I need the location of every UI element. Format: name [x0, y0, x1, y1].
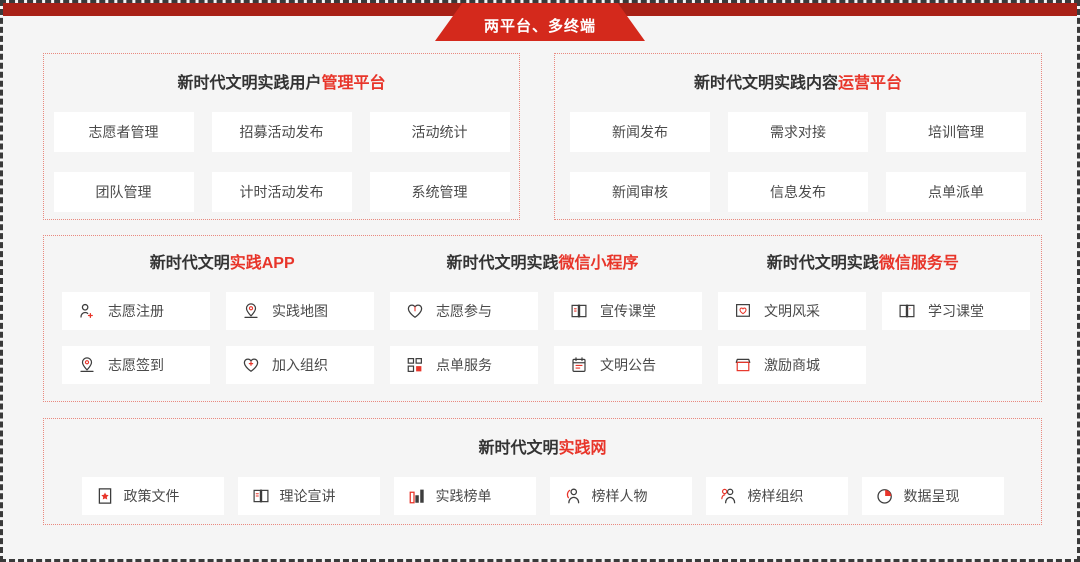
calendar-icon: [570, 356, 588, 374]
panel-user-title: 新时代文明实践用户管理平台: [44, 76, 519, 92]
card-policy-documents[interactable]: 政策文件: [82, 477, 224, 515]
banner-title: 两平台、多终端: [484, 11, 596, 34]
panel-ops-row-1: 新闻发布 需求对接 培训管理: [555, 112, 1041, 152]
card-join-organization-label: 加入组织: [272, 355, 328, 375]
book-open-icon: [898, 302, 916, 320]
location-check-icon: [78, 356, 96, 374]
card-news-review[interactable]: 新闻审核: [570, 172, 710, 212]
card-news-publish[interactable]: 新闻发布: [570, 112, 710, 152]
panel-user-title-plain: 新时代文明实践用户: [177, 75, 321, 92]
card-incentive-mall[interactable]: 激励商城: [718, 346, 866, 384]
card-volunteer-management[interactable]: 志愿者管理: [54, 112, 194, 152]
mobile-title-service-account-accent: 微信服务号: [879, 255, 959, 272]
people-icon: [720, 487, 738, 505]
card-recruit-activity-publish[interactable]: 招募活动发布: [212, 112, 352, 152]
user-plus-icon: [78, 302, 96, 320]
card-volunteer-register[interactable]: 志愿注册: [62, 292, 210, 330]
card-team-management[interactable]: 团队管理: [54, 172, 194, 212]
card-study-classroom[interactable]: 学习课堂: [882, 292, 1030, 330]
heart-plus-icon: [242, 356, 260, 374]
card-order-service-label: 点单服务: [436, 355, 492, 375]
card-civilization-notice-label: 文明公告: [600, 355, 656, 375]
card-data-presentation[interactable]: 数据呈现: [862, 477, 1004, 515]
card-role-model-organization[interactable]: 榜样组织: [706, 477, 848, 515]
image-heart-icon: [734, 302, 752, 320]
panel-user-row-2: 团队管理 计时活动发布 系统管理: [44, 172, 519, 212]
mobile-title-service-account-plain: 新时代文明实践: [767, 255, 879, 272]
card-theory-lecture-label: 理论宣讲: [280, 486, 336, 506]
panel-ops-title-accent: 运营平台: [838, 75, 902, 92]
panel-user-management-platform: 新时代文明实践用户管理平台 志愿者管理 招募活动发布 活动统计 团队管理 计时活…: [43, 53, 520, 220]
card-incentive-mall-label: 激励商城: [764, 355, 820, 375]
panel-content-operations-platform: 新时代文明实践内容运营平台 新闻发布 需求对接 培训管理 新闻审核 信息发布 点…: [554, 53, 1042, 220]
panel-ops-title-plain: 新时代文明实践内容: [694, 75, 838, 92]
card-study-classroom-label: 学习课堂: [928, 301, 984, 321]
mobile-title-miniprogram-plain: 新时代文明实践: [446, 255, 558, 272]
mobile-title-miniprogram: 新时代文明实践微信小程序: [382, 256, 702, 272]
web-items-row: 政策文件 理论宣讲 实践榜单: [44, 477, 1041, 515]
card-order-service[interactable]: 点单服务: [390, 346, 538, 384]
card-volunteer-register-label: 志愿注册: [108, 301, 164, 321]
card-volunteer-checkin-label: 志愿签到: [108, 355, 164, 375]
card-civilization-notice[interactable]: 文明公告: [554, 346, 702, 384]
card-practice-map[interactable]: 实践地图: [226, 292, 374, 330]
card-system-management[interactable]: 系统管理: [370, 172, 510, 212]
map-pin-icon: [242, 302, 260, 320]
grid-apps-icon: [406, 356, 424, 374]
card-practice-ranking-label: 实践榜单: [436, 486, 492, 506]
card-role-model-person[interactable]: 榜样人物: [550, 477, 692, 515]
card-publicity-classroom-label: 宣传课堂: [600, 301, 656, 321]
heart-icon: [406, 302, 424, 320]
panel-practice-web: 新时代文明实践网 政策文件 理论宣讲: [43, 418, 1042, 525]
panel-web-title-accent: 实践网: [559, 440, 607, 457]
mobile-title-app-plain: 新时代文明: [150, 255, 230, 272]
document-star-icon: [96, 487, 114, 505]
shop-icon: [734, 356, 752, 374]
mobile-titles-row: 新时代文明实践APP 新时代文明实践微信小程序 新时代文明实践微信服务号: [44, 256, 1041, 272]
card-civilization-style-label: 文明风采: [764, 301, 820, 321]
card-volunteer-checkin[interactable]: 志愿签到: [62, 346, 210, 384]
card-information-publish[interactable]: 信息发布: [728, 172, 868, 212]
person-icon: [564, 487, 582, 505]
card-demand-matching[interactable]: 需求对接: [728, 112, 868, 152]
panel-user-title-accent: 管理平台: [322, 75, 386, 92]
card-policy-documents-label: 政策文件: [124, 486, 180, 506]
mobile-title-miniprogram-accent: 微信小程序: [558, 255, 638, 272]
card-practice-ranking[interactable]: 实践榜单: [394, 477, 536, 515]
mobile-title-app: 新时代文明实践APP: [62, 256, 382, 272]
card-order-dispatch[interactable]: 点单派单: [886, 172, 1026, 212]
mobile-row-1: 志愿注册 实践地图 志愿参与: [44, 292, 1041, 330]
card-role-model-organization-label: 榜样组织: [748, 486, 804, 506]
book-open-icon: [252, 487, 270, 505]
panel-mobile-terminals: 新时代文明实践APP 新时代文明实践微信小程序 新时代文明实践微信服务号 志愿注…: [43, 235, 1042, 402]
card-placeholder: [882, 346, 1030, 384]
banner-ribbon: 两平台、多终端: [435, 3, 645, 41]
card-theory-lecture[interactable]: 理论宣讲: [238, 477, 380, 515]
panel-user-row-1: 志愿者管理 招募活动发布 活动统计: [44, 112, 519, 152]
card-join-organization[interactable]: 加入组织: [226, 346, 374, 384]
card-practice-map-label: 实践地图: [272, 301, 328, 321]
mobile-title-app-accent: 实践APP: [230, 255, 295, 272]
mobile-title-service-account: 新时代文明实践微信服务号: [703, 256, 1023, 272]
card-data-presentation-label: 数据呈现: [904, 486, 960, 506]
mobile-row-2: 志愿签到 加入组织 点单服务: [44, 346, 1041, 384]
book-open-icon: [570, 302, 588, 320]
panel-ops-row-2: 新闻审核 信息发布 点单派单: [555, 172, 1041, 212]
card-timed-activity-publish[interactable]: 计时活动发布: [212, 172, 352, 212]
card-volunteer-participate-label: 志愿参与: [436, 301, 492, 321]
panel-web-title: 新时代文明实践网: [44, 441, 1041, 457]
card-volunteer-participate[interactable]: 志愿参与: [390, 292, 538, 330]
card-training-management[interactable]: 培训管理: [886, 112, 1026, 152]
card-activity-statistics[interactable]: 活动统计: [370, 112, 510, 152]
panel-web-title-plain: 新时代文明: [478, 440, 558, 457]
bar-chart-icon: [408, 487, 426, 505]
pie-chart-icon: [876, 487, 894, 505]
card-role-model-person-label: 榜样人物: [592, 486, 648, 506]
panel-ops-title: 新时代文明实践内容运营平台: [555, 76, 1041, 92]
card-civilization-style[interactable]: 文明风采: [718, 292, 866, 330]
infographic-root: 两平台、多终端 新时代文明实践用户管理平台 志愿者管理 招募活动发布 活动统计 …: [0, 0, 1080, 562]
card-publicity-classroom[interactable]: 宣传课堂: [554, 292, 702, 330]
